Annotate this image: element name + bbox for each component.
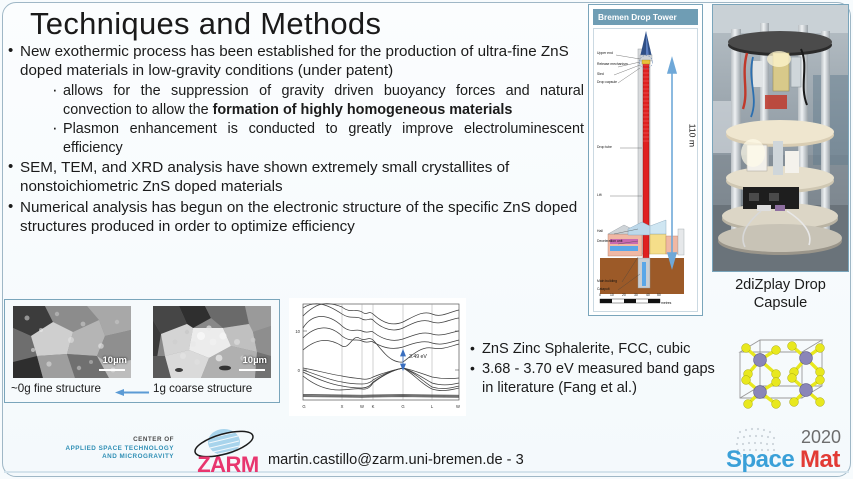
zarm-tagline-line1: CENTER OF <box>56 436 174 445</box>
band-structure-svg: 10 0 <box>289 298 466 416</box>
svg-text:X: X <box>341 404 344 409</box>
drop-tower-label: Lift <box>597 193 602 197</box>
scale-bar <box>99 369 125 372</box>
zinc-blende-crystal-image <box>726 332 836 412</box>
spacemat-word-mat: Mat <box>800 446 840 474</box>
spacemat-logo: 2020 Space Mat <box>712 424 849 476</box>
sem-micrograph-fine <box>13 306 131 378</box>
crystal-structure-svg <box>726 332 836 412</box>
scale-tick: 40 <box>646 293 650 297</box>
bullet-item: Plasmon enhancement is conducted to grea… <box>50 120 584 158</box>
zarm-tagline-line3: AND MICROGRAVITY <box>56 453 174 462</box>
page-title: Techniques and Methods <box>30 6 381 42</box>
sem-image-1g: 10µm <box>153 306 271 378</box>
drop-tower-svg <box>594 29 697 311</box>
scale-tick: 20 <box>622 293 626 297</box>
scale-tick: 50 <box>657 293 661 297</box>
main-bullet-list: New exothermic process has been establis… <box>6 42 584 237</box>
drop-tower-label: Drop tube <box>597 145 612 149</box>
drop-tower-label: Main building <box>597 279 617 283</box>
drop-tower-label: Deceleration unit <box>597 239 622 243</box>
scale-tick: 10 <box>610 293 614 297</box>
scale-tick: 30 <box>634 293 638 297</box>
sem-caption-1g: 1g coarse structure <box>153 382 252 395</box>
drop-tower-label: Upper end <box>597 51 613 55</box>
drop-tower-diagram: Upper end Release mechanism Sled Drop ca… <box>593 28 698 312</box>
svg-text:K: K <box>372 404 375 409</box>
drop-tower-label: Hall <box>597 229 603 233</box>
spacemat-year: 2020 <box>801 427 841 448</box>
scale-bar <box>239 369 265 372</box>
bullet-text-bold: formation of highly homogeneous material… <box>213 102 513 118</box>
svg-text:W: W <box>456 404 460 409</box>
drop-capsule-photo <box>712 4 849 272</box>
bullet-item: allows for the suppression of gravity dr… <box>50 82 584 120</box>
capsule-caption-line2: Capsule <box>754 295 808 311</box>
sem-caption-0g: ~0g fine structure <box>11 382 101 395</box>
sem-comparison-panel: 10µm <box>4 299 280 403</box>
zarm-logo: ZARM <box>176 428 280 474</box>
comparison-arrow-icon <box>115 388 149 397</box>
scale-unit: metres <box>661 301 671 305</box>
bullet-item: Numerical analysis has begun on the elec… <box>6 198 584 237</box>
capsule-caption: 2diZplay Drop Capsule <box>712 276 849 312</box>
bullet-item: SEM, TEM, and XRD analysis have shown ex… <box>6 158 584 197</box>
band-gap-annotation: 3.49 eV <box>409 354 427 360</box>
presentation-slide: Techniques and Methods New exothermic pr… <box>0 0 853 479</box>
fact-item: ZnS Zinc Sphalerite, FCC, cubic <box>470 340 718 359</box>
capsule-photo-svg <box>713 5 848 271</box>
zarm-tagline: CENTER OF APPLIED SPACE TECHNOLOGY AND M… <box>56 436 174 462</box>
svg-text:W: W <box>360 404 364 409</box>
fact-item: 3.68 - 3.70 eV measured band gaps in lit… <box>470 360 718 398</box>
svg-text:10: 10 <box>295 329 300 334</box>
znS-facts-list: ZnS Zinc Sphalerite, FCC, cubic 3.68 - 3… <box>470 340 718 399</box>
capsule-caption-line1: 2diZplay Drop <box>735 277 826 293</box>
drop-tower-header: Bremen Drop Tower <box>593 9 698 25</box>
drop-tower-label: Drop capsule <box>597 80 617 84</box>
scale-bar-label: 10µm <box>243 355 268 366</box>
contact-email: martin.castillo@zarm.uni-bremen.de - 3 <box>268 452 524 468</box>
zarm-wordmark: ZARM <box>197 452 259 474</box>
spacemat-word-space: Space <box>726 446 794 474</box>
scale-tick: 0 <box>599 293 601 297</box>
band-structure-chart: 10 0 <box>289 298 466 416</box>
drop-tower-label: Sled <box>597 72 604 76</box>
drop-tower-panel: Bremen Drop Tower <box>588 4 703 316</box>
zarm-tagline-line2: APPLIED SPACE TECHNOLOGY <box>56 445 174 454</box>
svg-text:G: G <box>401 404 404 409</box>
drop-tower-label: Release mechanism <box>597 62 628 66</box>
sem-micrograph-coarse <box>153 306 271 378</box>
scale-bar-label: 10µm <box>103 355 128 366</box>
tower-height-label: 110 m <box>687 124 697 147</box>
sem-image-0g: 10µm <box>13 306 131 378</box>
drop-tower-label: Catapult <box>597 287 610 291</box>
bullet-item: New exothermic process has been establis… <box>6 42 584 81</box>
svg-text:G: G <box>302 404 305 409</box>
